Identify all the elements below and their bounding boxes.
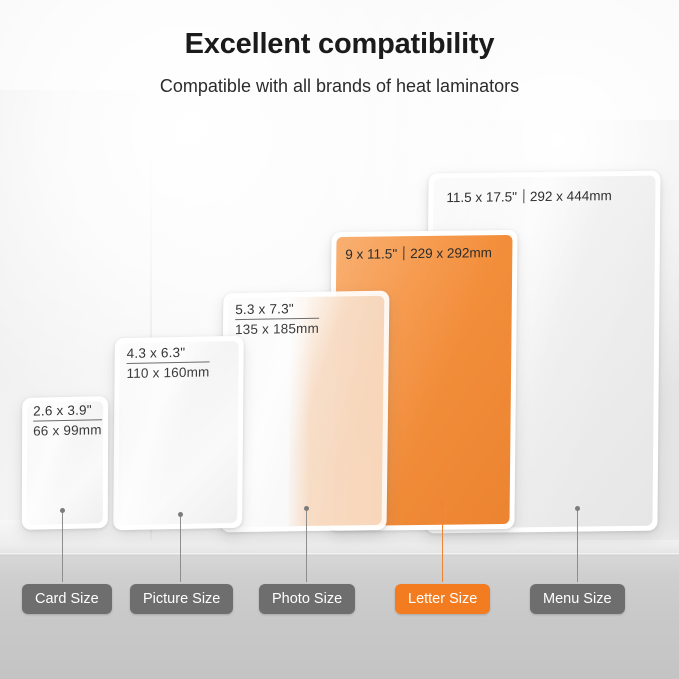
chip-menu-size[interactable]: Menu Size bbox=[530, 584, 625, 614]
leader-line-photo bbox=[306, 508, 307, 582]
leader-line-letter bbox=[442, 503, 443, 582]
leader-dot-picture bbox=[178, 512, 183, 517]
pouch-menu-dim-imperial: 11.5 x 17.5" bbox=[446, 189, 517, 205]
leader-dot-card bbox=[60, 508, 65, 513]
pouch-photo-dim-imperial: 5.3 x 7.3" bbox=[235, 301, 319, 317]
pouch-letter-dimensions: 9 x 11.5"229 x 292mm bbox=[345, 244, 492, 264]
pouch-picture-size[interactable]: 4.3 x 6.3" 110 x 160mm bbox=[113, 336, 244, 531]
pouch-picture-dimensions: 4.3 x 6.3" 110 x 160mm bbox=[126, 344, 209, 381]
chip-letter-size[interactable]: Letter Size bbox=[395, 584, 490, 614]
pouch-card-dimensions: 2.6 x 3.9" 66 x 99mm bbox=[33, 402, 102, 438]
pouch-card-dim-rule bbox=[33, 419, 102, 421]
infographic-canvas: Excellent compatibility Compatible with … bbox=[0, 0, 679, 679]
pouch-picture-dim-imperial: 4.3 x 6.3" bbox=[127, 344, 210, 361]
leader-line-menu bbox=[577, 508, 578, 582]
leader-dot-menu bbox=[575, 506, 580, 511]
pouch-menu-dimensions: 11.5 x 17.5"292 x 444mm bbox=[446, 187, 612, 207]
chip-card-size[interactable]: Card Size bbox=[22, 584, 112, 614]
page-title: Excellent compatibility bbox=[0, 28, 679, 61]
pouch-letter-dim-imperial: 9 x 11.5" bbox=[345, 246, 397, 262]
pouch-card-size[interactable]: 2.6 x 3.9" 66 x 99mm bbox=[22, 396, 108, 530]
pouch-photo-dim-rule bbox=[235, 318, 319, 320]
chip-photo-size[interactable]: Photo Size bbox=[259, 584, 355, 614]
pouch-menu-dim-separator bbox=[523, 189, 524, 203]
leader-line-card bbox=[62, 510, 63, 582]
page-subtitle: Compatible with all brands of heat lamin… bbox=[0, 76, 679, 97]
pouch-card-dim-metric: 66 x 99mm bbox=[33, 422, 102, 438]
leader-dot-letter bbox=[440, 501, 445, 506]
pouch-menu-dim-metric: 292 x 444mm bbox=[530, 188, 612, 204]
chip-picture-size[interactable]: Picture Size bbox=[130, 584, 233, 614]
pouch-photo-size[interactable]: 5.3 x 7.3" 135 x 185mm bbox=[221, 291, 390, 533]
pouch-card-dim-imperial: 2.6 x 3.9" bbox=[33, 402, 102, 418]
pouch-picture-dim-rule bbox=[127, 361, 210, 364]
pouch-letter-dim-metric: 229 x 292mm bbox=[410, 245, 492, 261]
pouch-picture-dim-metric: 110 x 160mm bbox=[126, 364, 209, 381]
leader-dot-photo bbox=[304, 506, 309, 511]
leader-line-picture bbox=[180, 514, 181, 582]
pouch-letter-dim-separator bbox=[403, 246, 404, 260]
pouch-photo-dimensions: 5.3 x 7.3" 135 x 185mm bbox=[235, 301, 319, 337]
pouch-photo-dim-metric: 135 x 185mm bbox=[235, 321, 319, 337]
